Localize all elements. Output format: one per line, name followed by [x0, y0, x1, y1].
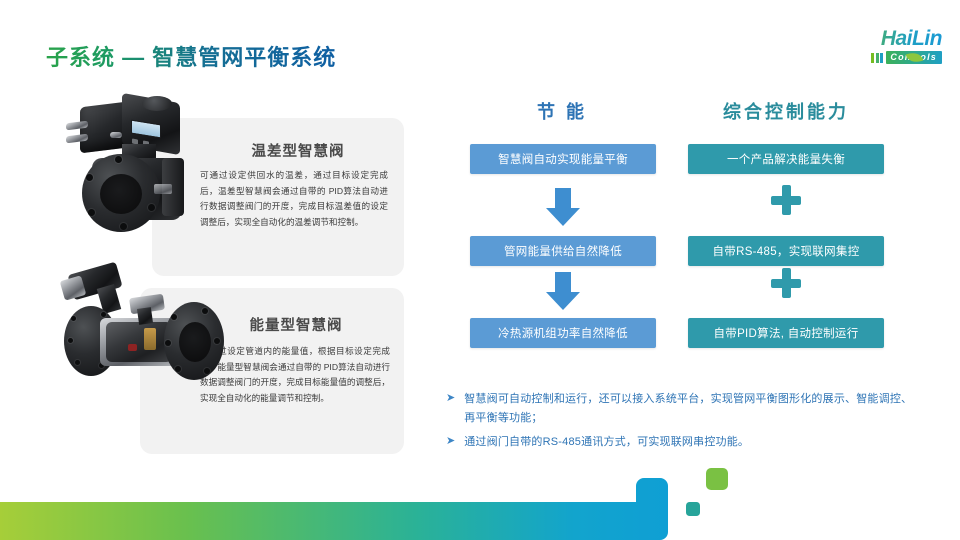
flow-box-control-1[interactable]: 一个产品解决能量失衡: [688, 144, 884, 174]
energy-smart-valve-photo: [44, 266, 220, 388]
flow-box-energy-3[interactable]: 冷热源机组功率自然降低: [470, 318, 656, 348]
bullet-list: ➤ 智慧阀可自动控制和运行，还可以接入系统平台，实现管网平衡图形化的展示、智能调…: [446, 390, 916, 457]
chevron-right-icon: ➤: [446, 392, 455, 404]
bullet-text: 智慧阀可自动控制和运行，还可以接入系统平台，实现管网平衡图形化的展示、智能调控、…: [464, 390, 916, 428]
arrow-down-icon: [546, 272, 580, 312]
list-item: ➤ 智慧阀可自动控制和运行，还可以接入系统平台，实现管网平衡图形化的展示、智能调…: [446, 390, 916, 428]
plus-icon: [771, 185, 801, 215]
flow-box-energy-1[interactable]: 智慧阀自动实现能量平衡: [470, 144, 656, 174]
thermal-smart-valve-photo: [62, 96, 202, 228]
bottom-decoration: [0, 460, 960, 540]
flow-box-control-3[interactable]: 自带PID算法, 自动控制运行: [688, 318, 884, 348]
flow-box-control-2[interactable]: 自带RS-485，实现联网集控: [688, 236, 884, 266]
list-item: ➤ 通过阀门自带的RS-485通讯方式，可实现联网串控功能。: [446, 433, 916, 452]
bullet-text: 通过阀门自带的RS-485通讯方式，可实现联网串控功能。: [464, 433, 749, 452]
logo-bars-icon: [871, 53, 883, 63]
arrow-down-icon: [546, 188, 580, 228]
bottom-bar-graphic: [0, 460, 960, 540]
logo-wordmark: HaiLin: [814, 28, 942, 49]
column-heading-integrated-control: 综合控制能力: [686, 98, 886, 124]
column-heading-energy-saving: 节 能: [462, 98, 662, 124]
plus-icon: [771, 268, 801, 298]
slide-canvas: 子系统 — 智慧管网平衡系统 HaiLin Controls 温差型智慧阀 可通…: [0, 0, 960, 540]
hailin-logo: HaiLin Controls: [814, 28, 942, 74]
card-body-text: 可通过设定供回水的温差，通过目标设定完成后，温差型智慧阀会通过自带的 PID算法…: [200, 168, 388, 230]
chevron-right-icon: ➤: [446, 435, 455, 447]
flow-box-energy-2[interactable]: 管网能量供给自然降低: [470, 236, 656, 266]
page-title: 子系统 — 智慧管网平衡系统: [46, 40, 336, 72]
card-body-text: 可通过设定管道内的能量值，根据目标设定完成后，能量型智慧阀会通过自带的 PID算…: [200, 344, 390, 406]
